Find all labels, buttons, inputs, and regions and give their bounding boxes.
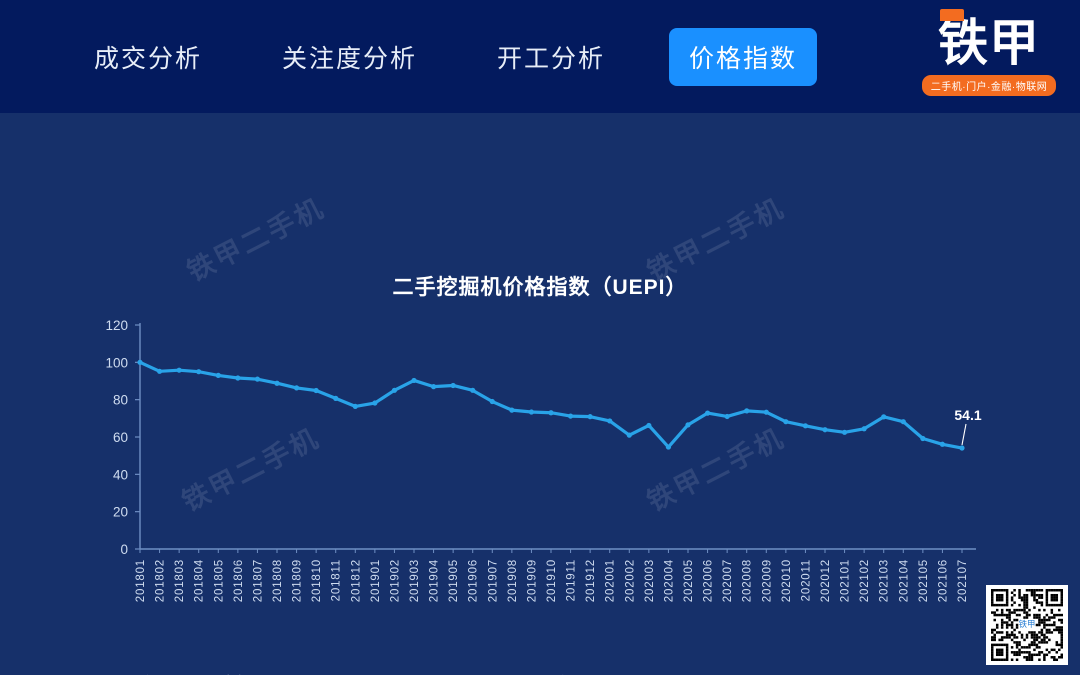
x-tick-label: 201905 [448, 559, 460, 602]
logo-text: 铁甲 [938, 14, 1040, 72]
data-point [588, 414, 593, 419]
data-point [392, 388, 397, 393]
y-tick-label: 0 [120, 542, 128, 557]
data-point [177, 368, 182, 373]
tab-开工分析[interactable]: 开工分析 [481, 29, 621, 85]
chart-plot-area: 0204060801001202018012018022018032018042… [0, 113, 1080, 675]
data-point [783, 419, 788, 424]
data-point [235, 375, 240, 380]
x-tick-label: 202012 [820, 559, 832, 602]
data-point [803, 423, 808, 428]
uepi-line-series [140, 362, 962, 448]
logo-wordmark: 铁甲 [938, 18, 1040, 68]
data-point [725, 414, 730, 419]
data-point [294, 385, 299, 390]
x-tick-label: 202103 [879, 559, 891, 602]
qr-code[interactable]: 铁甲 [986, 585, 1068, 665]
y-tick-label: 100 [105, 355, 128, 370]
logo-subtitle: 二手机·门户·金融·物联网 [922, 75, 1057, 96]
data-point [705, 411, 710, 416]
x-tick-label: 202105 [918, 559, 930, 602]
slide-root: 成交分析 关注度分析 开工分析 价格指数 铁甲 二手机·门户·金融·物联网 铁甲… [0, 0, 1080, 675]
x-tick-label: 202107 [957, 559, 969, 602]
data-point [137, 360, 142, 365]
x-tick-label: 201801 [135, 559, 147, 602]
x-tick-label: 202101 [840, 559, 852, 602]
data-point [881, 414, 886, 419]
tab-价格指数[interactable]: 价格指数 [669, 28, 817, 86]
x-tick-label: 201907 [487, 559, 499, 602]
x-tick-label: 202011 [800, 559, 812, 601]
x-tick-label: 201912 [585, 559, 597, 602]
data-point [255, 377, 260, 382]
x-tick-label: 201808 [272, 559, 284, 602]
data-point [744, 408, 749, 413]
x-tick-label: 201906 [468, 559, 480, 602]
y-tick-label: 60 [113, 430, 128, 445]
x-tick-label: 201904 [429, 559, 441, 602]
data-point [470, 388, 475, 393]
x-tick-label: 201901 [370, 559, 382, 602]
tab-关注度分析[interactable]: 关注度分析 [266, 29, 433, 85]
x-tick-label: 201908 [507, 559, 519, 602]
data-point [196, 369, 201, 374]
line-chart-svg: 0204060801001202018012018022018032018042… [0, 113, 1080, 675]
data-point [901, 419, 906, 424]
x-tick-label: 202102 [859, 559, 871, 602]
data-point [529, 409, 534, 414]
y-tick-label: 40 [113, 467, 128, 482]
data-point [411, 378, 416, 383]
x-tick-label: 202007 [722, 559, 734, 602]
x-tick-label: 201803 [174, 559, 186, 602]
data-point [372, 400, 377, 405]
x-tick-label: 202106 [937, 559, 949, 602]
x-tick-label: 201804 [194, 559, 206, 602]
qr-code-graphic: 铁甲 [990, 589, 1064, 661]
data-point [157, 369, 162, 374]
data-point [353, 404, 358, 409]
x-tick-label: 201810 [311, 559, 323, 602]
annotation-leader-line [962, 424, 966, 445]
x-tick-label: 201909 [526, 559, 538, 602]
x-tick-label: 201911 [566, 559, 578, 601]
data-point [509, 408, 514, 413]
data-point [333, 396, 338, 401]
y-tick-label: 20 [113, 505, 128, 520]
data-point [685, 422, 690, 427]
data-point [920, 436, 925, 441]
data-point [764, 410, 769, 415]
qr-center-label: 铁甲 [1019, 619, 1036, 629]
annotation-value-label: 54.1 [954, 407, 981, 423]
tab-成交分析[interactable]: 成交分析 [78, 29, 218, 85]
data-point [490, 399, 495, 404]
y-tick-label: 80 [113, 393, 128, 408]
data-point [842, 430, 847, 435]
chart-caption: 2021年7月UEPI大幅下降为54.1，环比上月下降3.6%，同比2020年同… [108, 671, 698, 675]
x-tick-label: 202010 [781, 559, 793, 602]
slide-body: 铁甲二手机铁甲二手机铁甲二手机铁甲二手机 二手挖掘机价格指数（UEPI） 020… [0, 113, 1080, 675]
nav-tabs: 成交分析 关注度分析 开工分析 价格指数 [78, 28, 817, 86]
x-tick-label: 202002 [624, 559, 636, 602]
x-tick-label: 202006 [703, 559, 715, 602]
x-tick-label: 202004 [663, 559, 675, 602]
data-point [216, 373, 221, 378]
data-point [940, 442, 945, 447]
data-point [548, 410, 553, 415]
x-tick-label: 201806 [233, 559, 245, 602]
x-tick-label: 201809 [292, 559, 304, 602]
y-tick-label: 120 [105, 318, 128, 333]
x-tick-label: 201805 [213, 559, 225, 602]
logo-accent-mark [940, 9, 964, 21]
data-point [431, 384, 436, 389]
data-point [959, 445, 964, 450]
data-point [666, 444, 671, 449]
data-point [627, 433, 632, 438]
x-tick-label: 201902 [389, 559, 401, 602]
x-tick-label: 202008 [742, 559, 754, 602]
data-point [646, 423, 651, 428]
x-tick-label: 201802 [155, 559, 167, 602]
x-tick-label: 201811 [331, 559, 343, 601]
x-tick-label: 202005 [683, 559, 695, 602]
data-point [314, 388, 319, 393]
x-tick-label: 202009 [761, 559, 773, 602]
data-point [568, 413, 573, 418]
x-tick-label: 201910 [546, 559, 558, 602]
x-tick-label: 202001 [605, 559, 617, 602]
x-tick-label: 202104 [898, 559, 910, 602]
x-tick-label: 201903 [409, 559, 421, 602]
x-tick-label: 202003 [644, 559, 656, 602]
brand-logo[interactable]: 铁甲 二手机·门户·金融·物联网 [914, 8, 1064, 106]
data-point [862, 426, 867, 431]
data-point [607, 418, 612, 423]
x-tick-label: 201812 [350, 559, 362, 602]
data-point [451, 383, 456, 388]
x-tick-label: 201807 [252, 559, 264, 602]
data-point [274, 381, 279, 386]
top-header: 成交分析 关注度分析 开工分析 价格指数 铁甲 二手机·门户·金融·物联网 [0, 0, 1080, 113]
data-point [822, 427, 827, 432]
